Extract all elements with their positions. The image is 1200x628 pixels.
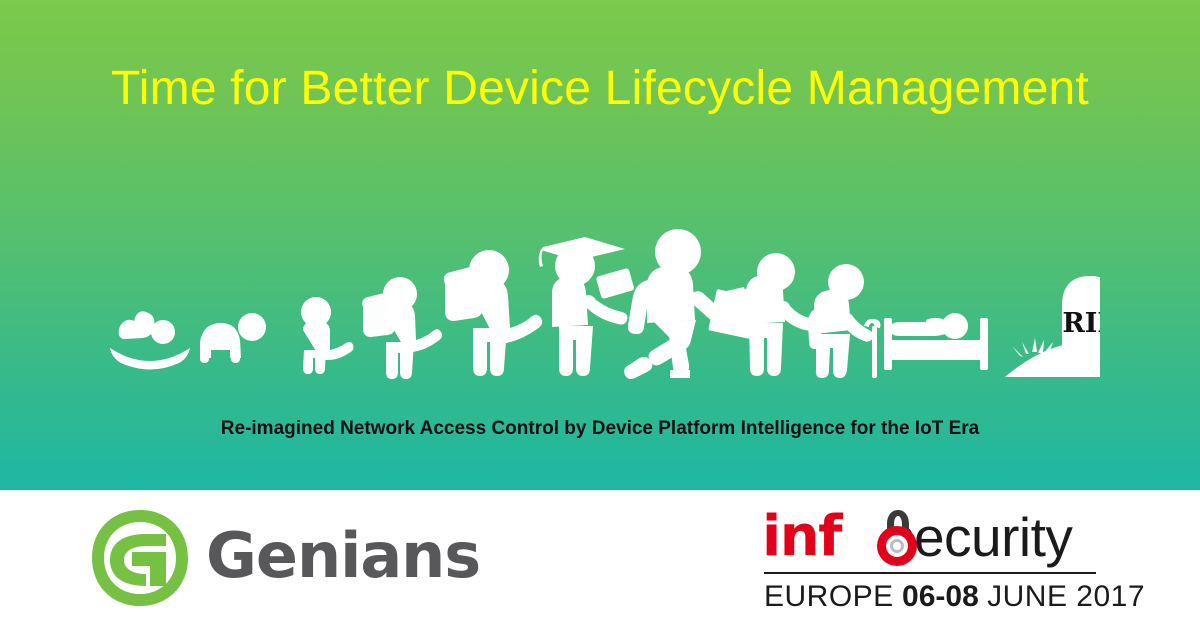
figure-elder-cane: [808, 264, 880, 378]
figure-person-in-bed: [884, 313, 988, 370]
headboard: [884, 318, 892, 370]
figure-crawling-baby: [200, 313, 266, 363]
event-region: EUROPE: [764, 580, 894, 613]
genians-g-mark: [88, 508, 192, 608]
figure-toddler: [301, 297, 354, 374]
infosecurity-divider: [764, 572, 1096, 574]
figure-infant-lying: [110, 311, 190, 369]
footer-bar: Genians infsecurity EUROPE 06-08 JUNE 20…: [0, 490, 1200, 628]
hero-panel: Time for Better Device Lifecycle Managem…: [0, 0, 1200, 490]
infosecurity-info-text: inf: [762, 504, 841, 569]
infosecurity-wordmark: infsecurity: [762, 506, 1072, 568]
figure-schoolchild-backpack: [362, 277, 442, 379]
lifecycle-illustration: RIP: [100, 222, 1100, 387]
promo-banner: Time for Better Device Lifecycle Managem…: [0, 0, 1200, 628]
figure-tombstone: RIP: [1005, 276, 1100, 377]
tombstone-rip-text: RIP: [1062, 308, 1100, 339]
mattress: [888, 340, 984, 354]
page-title: Time for Better Device Lifecycle Managem…: [0, 60, 1200, 118]
bed-frame: [888, 354, 984, 360]
event-dates: 06-08: [902, 580, 979, 613]
figure-senior-stooped: [734, 253, 815, 376]
genians-logo[interactable]: Genians: [88, 504, 508, 614]
infosecurity-event-line: EUROPE 06-08 JUNE 2017: [764, 580, 1145, 614]
subtitle: Re-imagined Network Access Control by De…: [0, 416, 1200, 442]
figure-student-backpack: [444, 250, 542, 376]
walking-cane: [872, 326, 877, 378]
event-month-year: JUNE 2017: [987, 580, 1145, 613]
infosecurity-logo[interactable]: infsecurity EUROPE 06-08 JUNE 2017: [762, 506, 1112, 614]
genians-wordmark: Genians: [206, 520, 480, 592]
tablet-device: [596, 268, 635, 299]
graduation-cap: [543, 237, 625, 259]
figure-graduate-tablet: [539, 237, 635, 376]
padlock-icon: [873, 508, 921, 568]
footboard: [980, 318, 988, 370]
